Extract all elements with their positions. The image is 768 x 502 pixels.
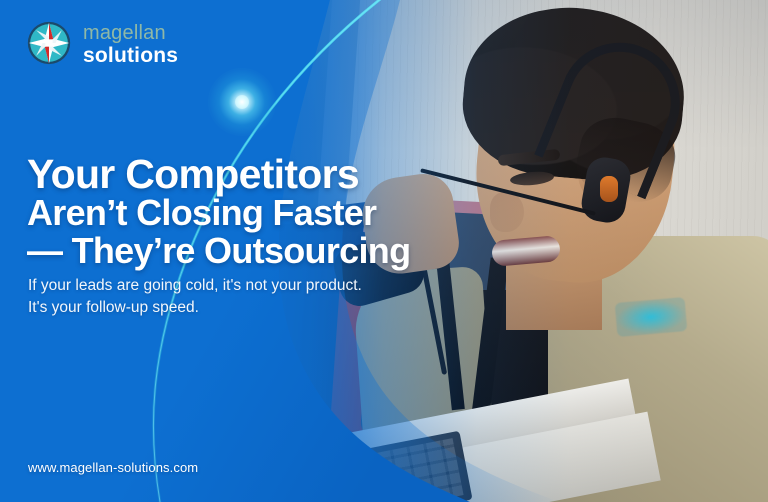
brand-name-bottom: solutions (83, 45, 178, 66)
compass-icon (26, 20, 72, 66)
brand-wordmark: magellan solutions (83, 21, 178, 66)
brand-logo[interactable]: magellan solutions (26, 20, 178, 66)
page-title: Your Competitors Aren’t Closing Faster —… (27, 154, 410, 270)
subheadline-line-2: It's your follow-up speed. (28, 297, 362, 319)
website-url[interactable]: www.magellan-solutions.com (28, 460, 198, 475)
subheadline: If your leads are going cold, it's not y… (28, 275, 362, 319)
subheadline-line-1: If your leads are going cold, it's not y… (28, 275, 362, 297)
headline-line-1: Your Competitors (27, 154, 410, 194)
brand-name-top: magellan (83, 23, 178, 43)
banner-content: magellan solutions Your Competitors Aren… (0, 0, 768, 502)
headline-line-3: — They’re Outsourcing (27, 232, 410, 270)
marketing-banner: magellan solutions Your Competitors Aren… (0, 0, 768, 502)
headline-line-2: Aren’t Closing Faster (27, 194, 410, 232)
